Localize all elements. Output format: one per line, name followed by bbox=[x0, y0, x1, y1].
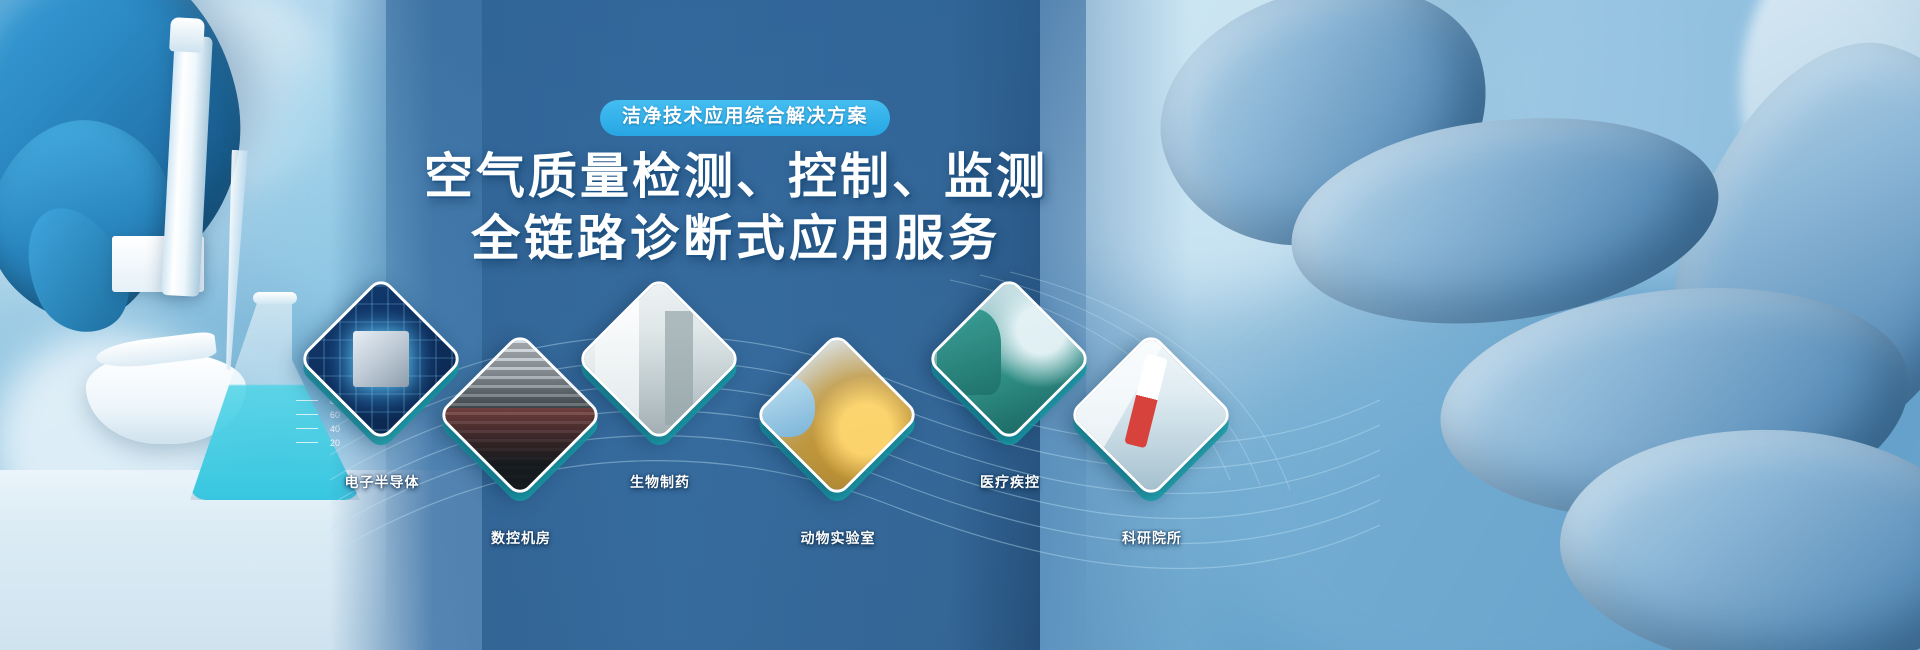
card-diamond-frame bbox=[754, 332, 921, 499]
animal-laboratory-icon bbox=[754, 332, 921, 499]
industry-card-row: 电子半导体 数控机房 生物制药 动物实验室 医疗疾控 bbox=[0, 0, 1920, 650]
medical-surgery-icon bbox=[926, 276, 1093, 443]
card-diamond-frame bbox=[576, 276, 743, 443]
card-diamond-frame bbox=[926, 276, 1093, 443]
card-label: 电子半导体 bbox=[282, 472, 482, 492]
card-label: 动物实验室 bbox=[738, 528, 938, 548]
semiconductor-chip-icon bbox=[298, 276, 465, 443]
card-label: 医疗疾控 bbox=[910, 472, 1110, 492]
biopharma-cleanroom-icon bbox=[576, 276, 743, 443]
card-diamond-frame bbox=[298, 276, 465, 443]
card-label: 科研院所 bbox=[1052, 528, 1252, 548]
card-label: 数控机房 bbox=[421, 528, 621, 548]
hero-banner: 80 60 40 20 bbox=[0, 0, 1920, 650]
card-label: 生物制药 bbox=[560, 472, 760, 492]
